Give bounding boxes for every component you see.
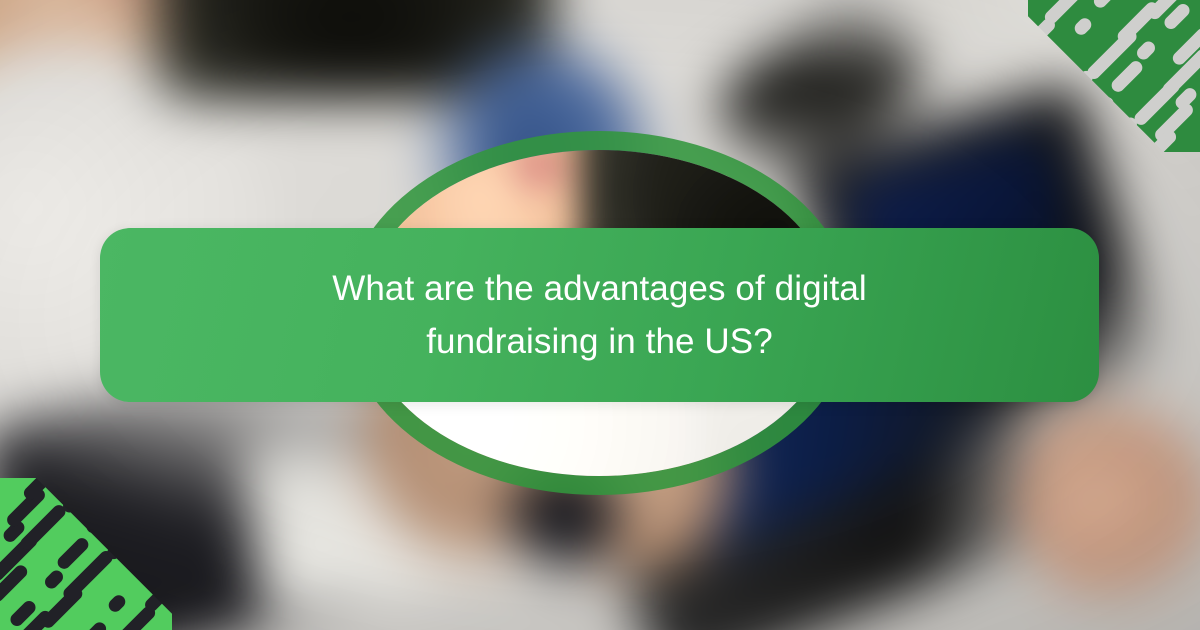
headline-line-2: fundraising in the US? — [426, 322, 773, 361]
page-title: What are the advantages of digital fundr… — [332, 262, 867, 368]
headline-line-1: What are the advantages of digital — [332, 269, 867, 308]
headline-banner: What are the advantages of digital fundr… — [100, 228, 1099, 402]
feature-card: What are the advantages of digital fundr… — [0, 0, 1200, 630]
